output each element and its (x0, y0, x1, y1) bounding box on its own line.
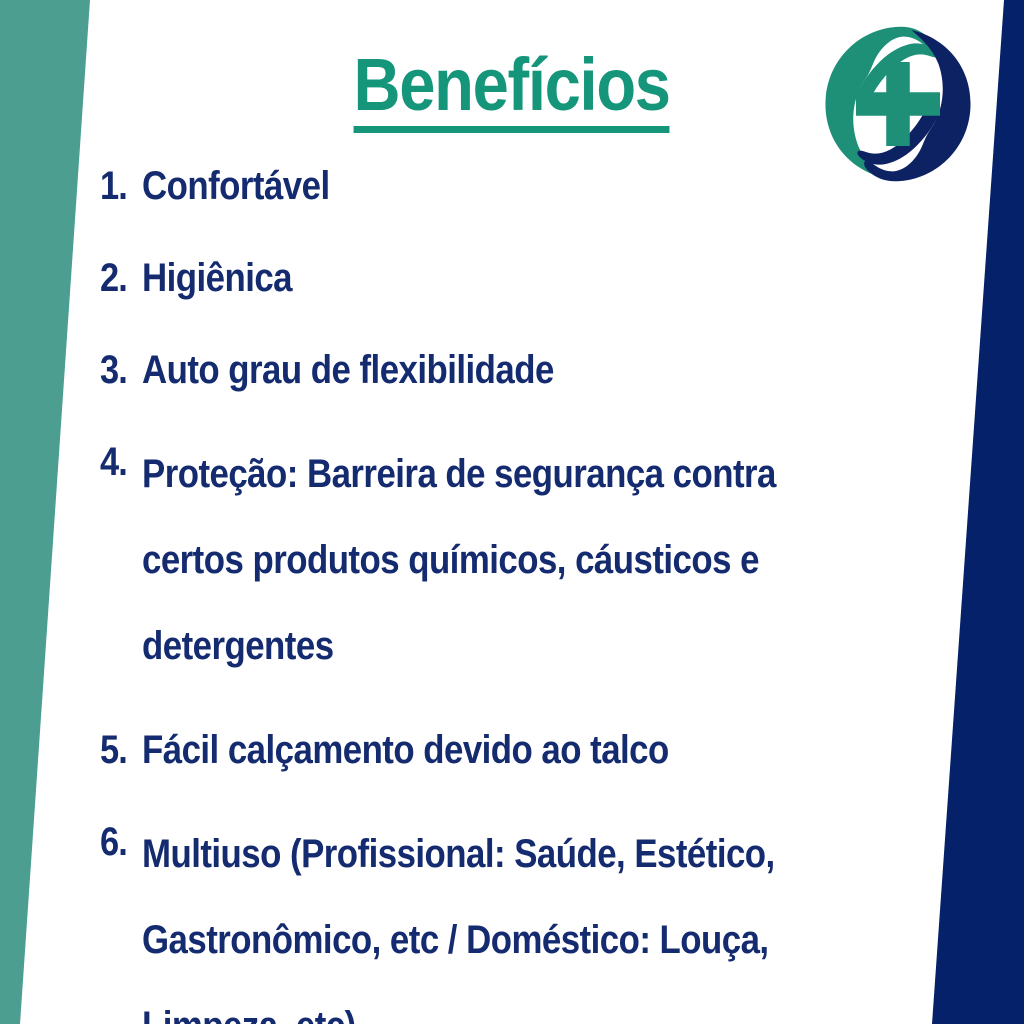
list-item-number: 2. (100, 247, 136, 309)
list-item: 2. Higiênica (100, 247, 960, 309)
list-item-number: 4. (100, 431, 136, 493)
list-item-text: Confortável (142, 155, 854, 217)
list-item-text: Proteção: Barreira de segurança contra c… (142, 431, 854, 689)
list-item-number: 5. (100, 719, 136, 781)
list-item-number: 1. (100, 155, 136, 217)
list-item-text: Multiuso (Profissional: Saúde, Estético,… (142, 811, 854, 1024)
list-item-text: Higiênica (142, 247, 854, 309)
benefits-slide: Benefícios 1. Confortável 2. Higiênica 3… (0, 0, 1024, 1024)
hands-and-cross-logo (812, 20, 984, 188)
benefits-list: 1. Confortável 2. Higiênica 3. Auto grau… (100, 155, 960, 1024)
list-item: 4. Proteção: Barreira de segurança contr… (100, 431, 960, 689)
list-item: 3. Auto grau de flexibilidade (100, 339, 960, 401)
page-title: Benefícios (354, 46, 670, 133)
list-item-text: Auto grau de flexibilidade (142, 339, 854, 401)
list-item-number: 3. (100, 339, 136, 401)
list-item-number: 6. (100, 811, 136, 873)
list-item-text: Fácil calçamento devido ao talco (142, 719, 854, 781)
list-item: 5. Fácil calçamento devido ao talco (100, 719, 960, 781)
list-item: 6. Multiuso (Profissional: Saúde, Estéti… (100, 811, 960, 1024)
